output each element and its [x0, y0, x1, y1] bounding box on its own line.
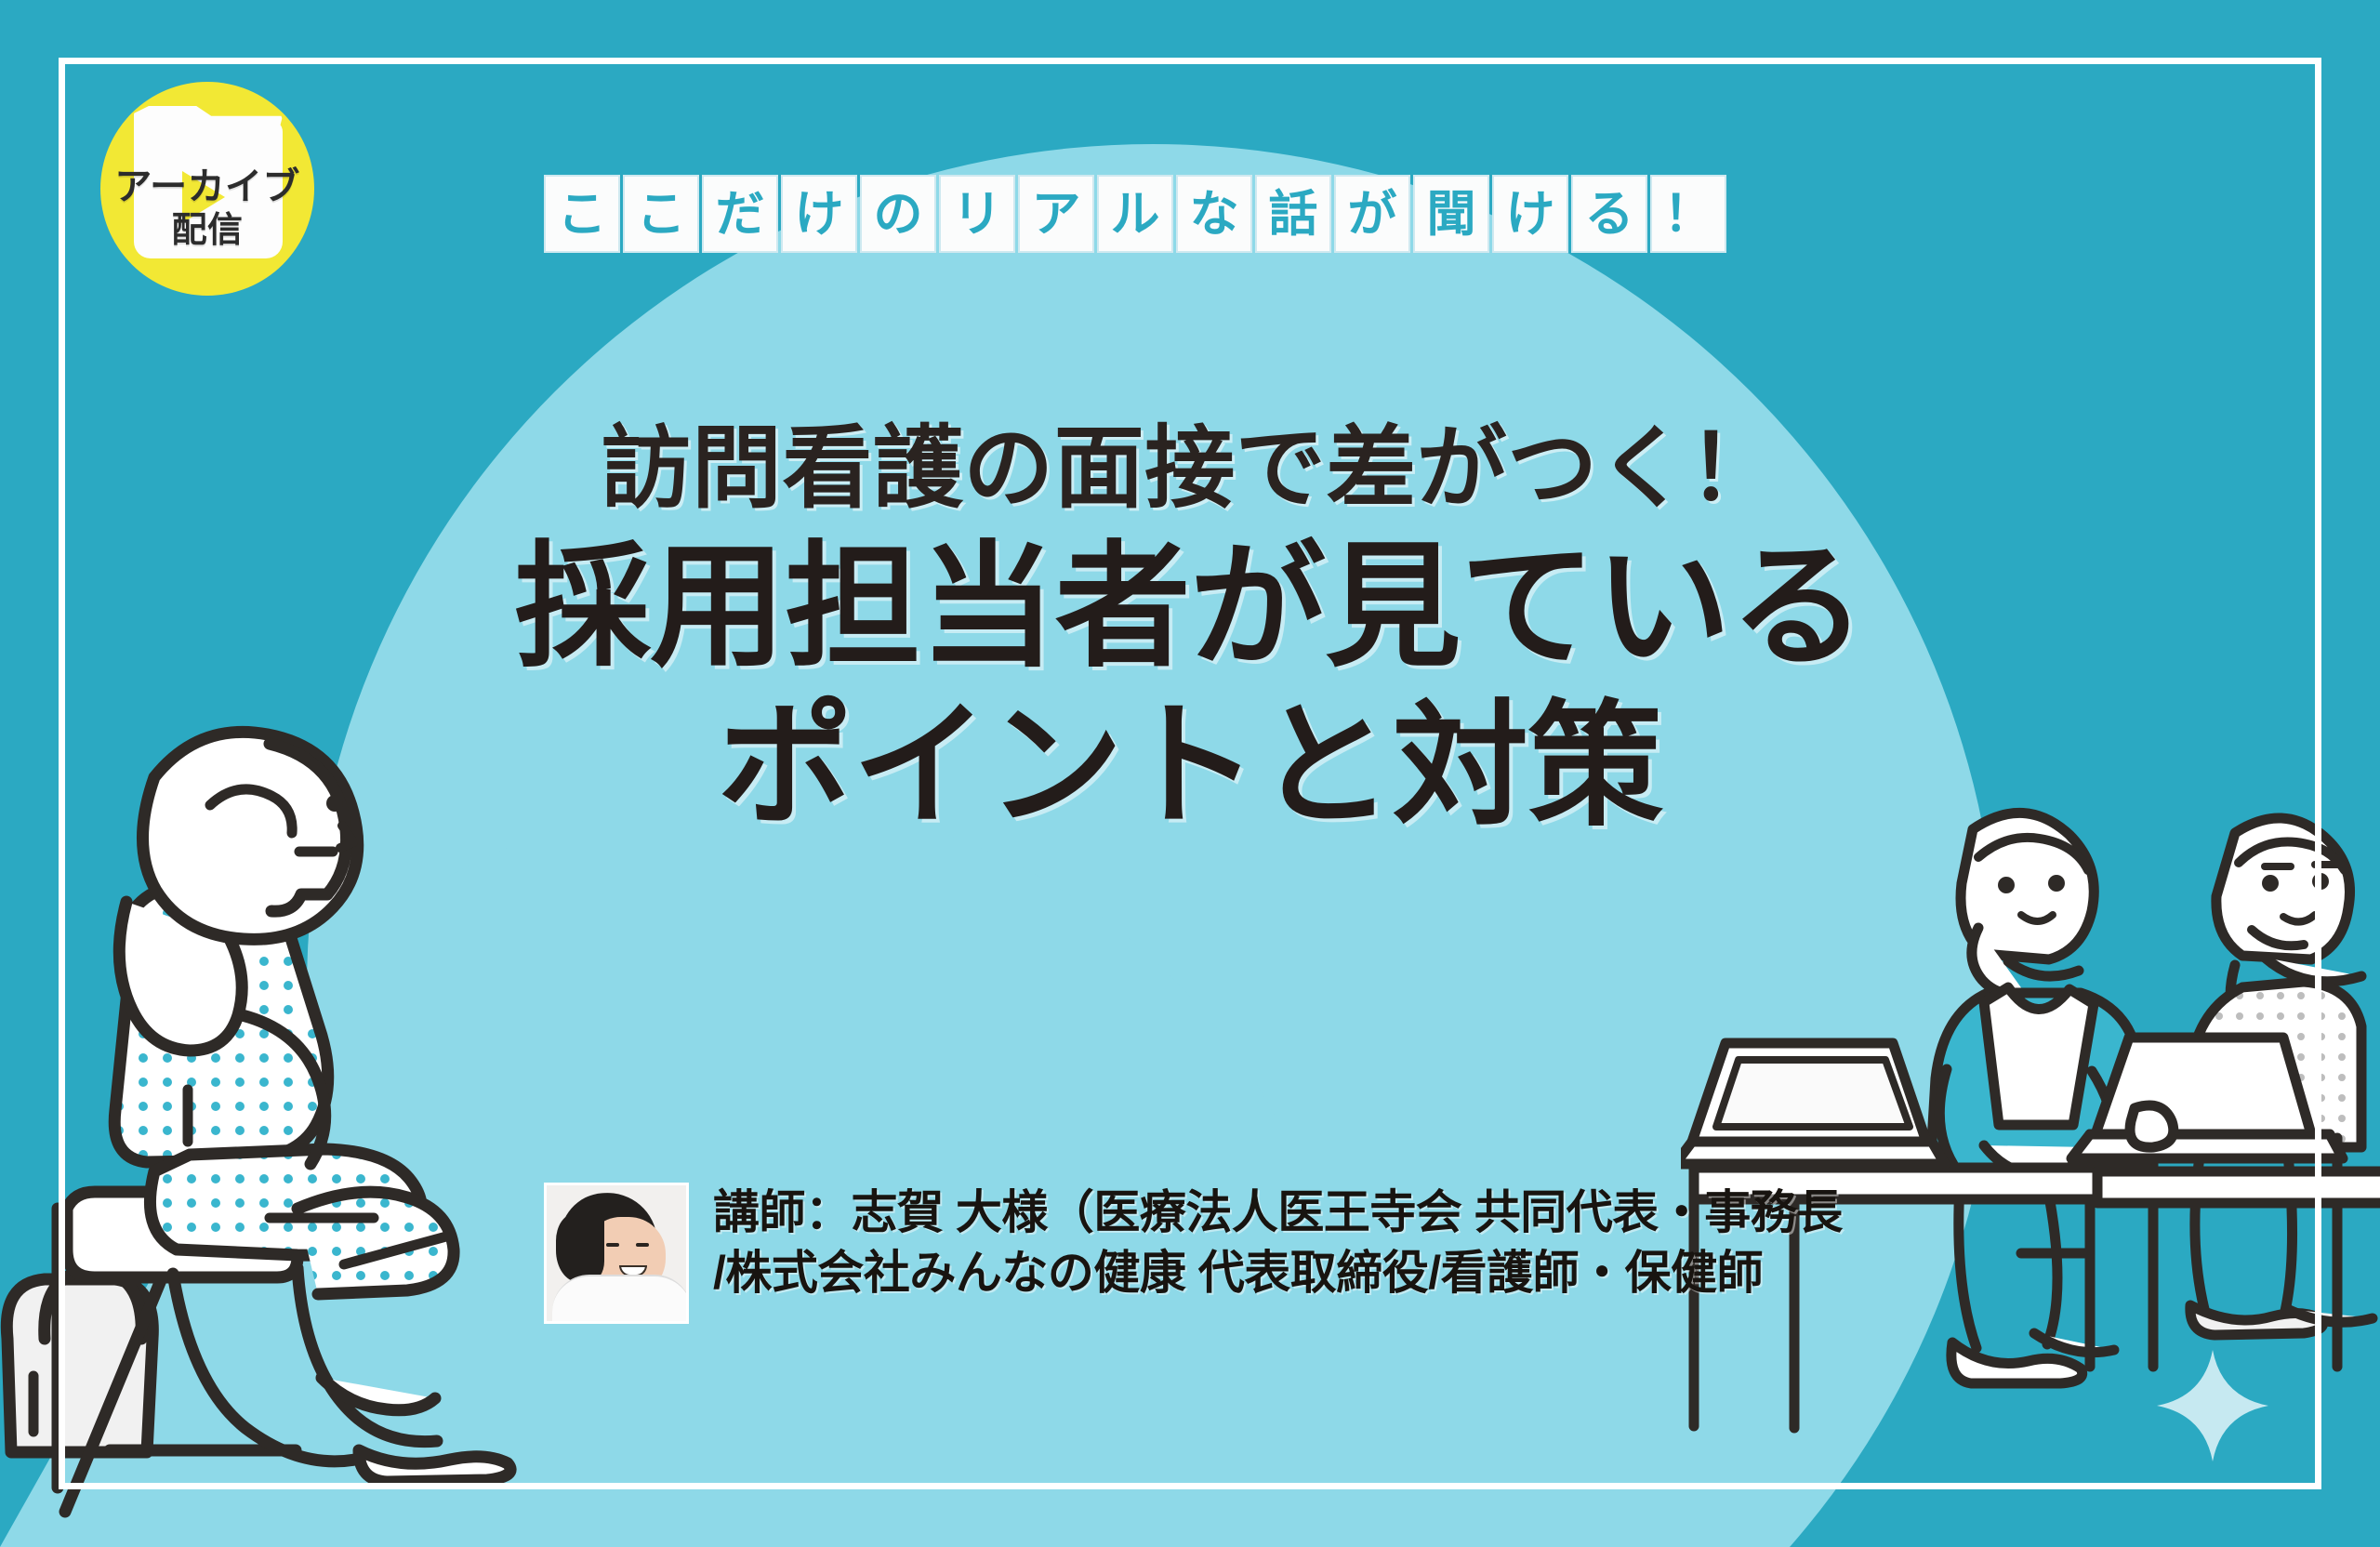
speaker-portrait [544, 1183, 689, 1324]
sparkle-icon [2157, 1350, 2268, 1461]
portrait-eye-left [606, 1243, 619, 1247]
badge-line-2: 配信 [100, 201, 314, 252]
archive-badge: アーカイブ 配信 [100, 82, 314, 296]
headline-sub: 訪問看護の面接で差がつく！ [0, 418, 2380, 520]
headline-line-1: 採用担当者が見ている [0, 531, 2380, 684]
kicker-char-box: け [781, 175, 857, 253]
kicker-char-box: ア [1018, 175, 1094, 253]
headline-group: 訪問看護の面接で差がつく！ 採用担当者が見ている ポイントと対策 [0, 418, 2380, 843]
portrait-eye-right [636, 1243, 649, 1247]
interview-panel-illustration [1681, 744, 2380, 1543]
kicker-banner: ここだけのリアルな話が聞ける！ [544, 175, 1729, 253]
kicker-char-box: が [1334, 175, 1410, 253]
kicker-char-box: な [1176, 175, 1252, 253]
kicker-char-box: こ [623, 175, 699, 253]
portrait-hair-side [556, 1213, 604, 1282]
speaker-credit-line-1: 講師：志賀 大様（医療法人医王寺会 共同代表・事務長 [713, 1183, 1843, 1243]
kicker-char-box: け [1492, 175, 1568, 253]
kicker-char-box: ！ [1650, 175, 1726, 253]
kicker-char-box: ル [1097, 175, 1173, 253]
kicker-char-box: る [1571, 175, 1647, 253]
speaker-credit: 講師：志賀 大様（医療法人医王寺会 共同代表・事務長 /株式会社みんなの健康 代… [713, 1183, 1843, 1303]
kicker-char-box: だ [702, 175, 778, 253]
kicker-char-box: 話 [1255, 175, 1331, 253]
headline-line-2: ポイントと対策 [0, 690, 2380, 843]
poster-canvas: アーカイブ 配信 ここだけのリアルな話が聞ける！ 訪問看護の面接で差がつく！ 採… [0, 0, 2380, 1547]
kicker-char-box: リ [939, 175, 1015, 253]
speaker-block: 講師：志賀 大様（医療法人医王寺会 共同代表・事務長 /株式会社みんなの健康 代… [544, 1183, 1843, 1324]
portrait-shirt [552, 1275, 689, 1324]
kicker-char-box: こ [544, 175, 620, 253]
kicker-char-box: の [860, 175, 936, 253]
speaker-credit-line-2: /株式会社みんなの健康 代表取締役/看護師・保健師 [713, 1243, 1843, 1303]
kicker-char-box: 聞 [1413, 175, 1489, 253]
